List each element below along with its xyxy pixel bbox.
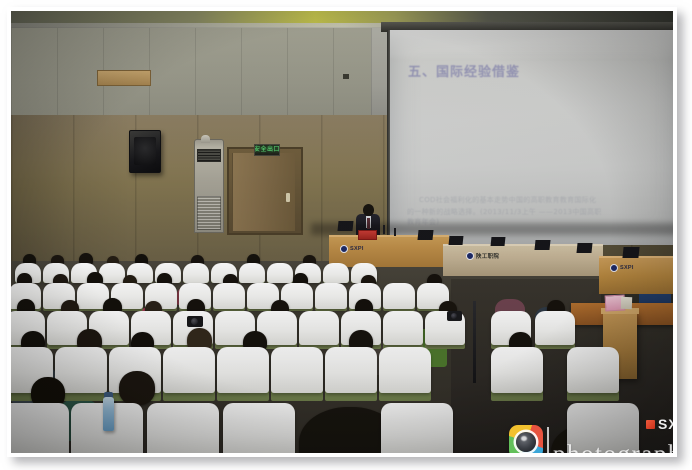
audience-chair[interactable] [323,263,349,283]
water-bottle [103,397,114,431]
side-door[interactable] [232,153,295,231]
attendee-head [119,371,155,405]
watermark: SXPI photography [509,415,673,453]
screen-glare [390,30,673,60]
head-table-right [599,256,673,294]
wall-plate [97,70,151,86]
desk-laptop [337,221,353,231]
audience-chair[interactable] [183,263,209,283]
audience-chair[interactable] [383,283,415,309]
podium-logo-right: SXPI [610,264,634,272]
desk-laptop [449,236,464,245]
desk-laptop [576,243,592,253]
audience-chair[interactable] [239,263,265,283]
audience-chair[interactable] [383,311,423,345]
watermark-divider [547,427,549,453]
audience-chair[interactable] [11,403,69,453]
podium-logo-centre-text: 陕工职院 [476,252,499,260]
air-conditioner-grille [197,149,221,162]
watermark-brand: SXPI [658,416,673,432]
presenter-nameplate [358,230,377,240]
watermark-brand-row: SXPI [646,416,673,432]
podium-logo-right-text: SXPI [620,265,634,271]
sxpi-logo-icon [646,420,655,429]
air-conditioner-vent [197,196,221,230]
desk-microphone [383,225,385,234]
desk-laptop [534,240,550,250]
audience-chair[interactable] [315,283,347,309]
podium-logo-centre: 陕工职院 [466,252,499,260]
audience-chair[interactable] [223,403,295,453]
tripod-pole [473,301,476,383]
podium-logo-left: SXPI [340,245,364,253]
wall-marker [343,74,349,79]
desk-microphone [394,228,396,236]
desk-laptop [491,237,506,246]
presenter-head [363,204,374,216]
exit-sign-label: 安全出口 [254,147,280,153]
audience-chair[interactable] [213,283,245,309]
exit-sign: 安全出口 [254,144,280,156]
watermark-text-wrap: SXPI photography [553,442,673,453]
audience-chair[interactable] [271,347,323,393]
desk-laptop [417,230,433,240]
camera-logo-icon [509,425,543,453]
camera-icon [447,311,462,321]
desk-laptop [622,247,639,258]
photo-frame: 安全出口 五、国际经验借鉴 COD社会福利化的基本走势中国的高职教育教育国际化 … [7,7,677,457]
audience-chair[interactable] [299,311,339,345]
air-conditioner-top [201,135,210,143]
audience-chair[interactable] [267,263,293,283]
institute-mark-icon [466,252,474,260]
sxpi-mark-icon [340,245,348,253]
audience-chair[interactable] [147,403,219,453]
photograph: 安全出口 五、国际经验借鉴 COD社会福利化的基本走势中国的高职教育教育国际化 … [11,11,673,453]
wall-speaker-icon [129,130,161,173]
watermark-word: photography [553,442,673,453]
camera-icon [187,316,203,327]
door-handle[interactable] [286,193,290,202]
audience-chair[interactable] [491,347,543,393]
slide-title: 五、国际经验借鉴 [408,61,648,80]
audience-chair[interactable] [535,311,575,345]
audience-chair[interactable] [217,347,269,393]
sxpi-mark-icon-right [610,264,618,272]
camera-lens-icon [516,432,536,452]
audience-chair[interactable] [163,347,215,393]
camera-lens-glint [521,436,527,441]
audience-chair[interactable] [379,347,431,393]
audience-chair[interactable] [381,403,453,453]
podium-logo-left-text: SXPI [350,246,364,252]
lectern-papers [621,297,632,309]
audience-chair[interactable] [325,347,377,393]
slide-body-line-2: 的一种新的战略选择。(2013/11/3上午 ——2013中国高职 [407,207,602,217]
slide-body-line-1: COD社会福利化的基本走势中国的高职教育教育国际化 [419,195,596,205]
audience-chair[interactable] [567,347,619,393]
